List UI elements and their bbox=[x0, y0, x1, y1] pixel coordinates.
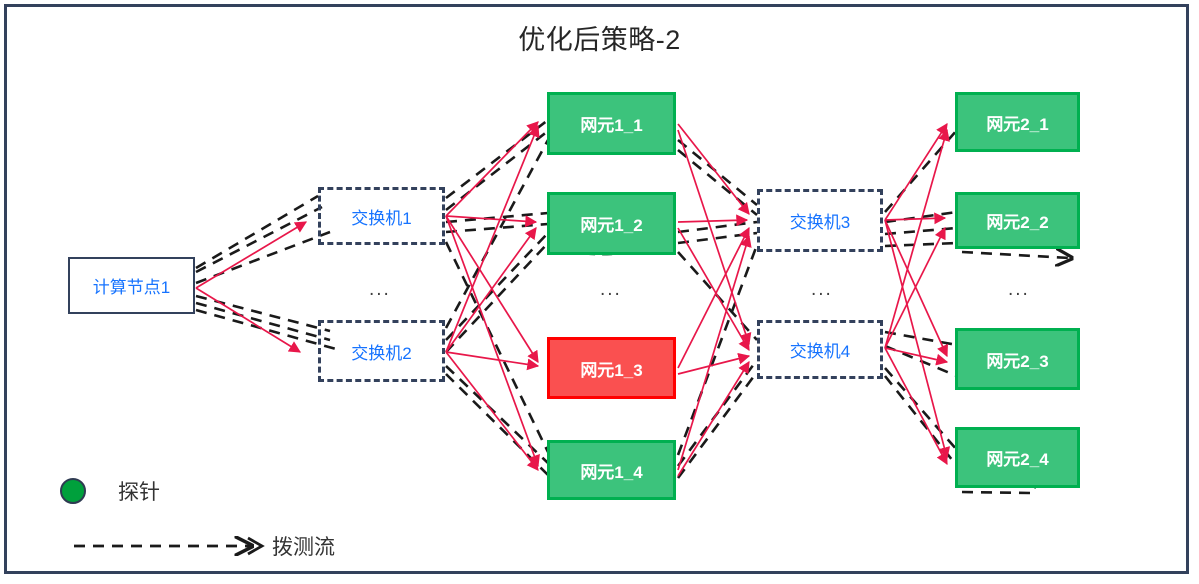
red-probe-edges bbox=[196, 122, 947, 476]
ellipsis-marker-4: ... bbox=[1008, 280, 1030, 299]
network-element-ne1_1[interactable]: 网元1_1 bbox=[547, 92, 676, 155]
network-element-label: 网元2_2 bbox=[986, 208, 1048, 233]
network-element-ne2_4[interactable]: 网元2_4 bbox=[955, 427, 1080, 488]
switch-node-sw1[interactable]: 交换机1 bbox=[318, 187, 445, 245]
network-element-ne1_2[interactable]: 网元1_2 bbox=[547, 192, 676, 255]
network-element-label: 网元1_1 bbox=[580, 111, 642, 136]
compute-node-label: 计算节点1 bbox=[93, 273, 170, 298]
switch-node-sw4[interactable]: 交换机4 bbox=[757, 320, 883, 379]
diagram-canvas: 优化后策略-2 bbox=[0, 0, 1199, 584]
switch-node-sw2[interactable]: 交换机2 bbox=[318, 320, 445, 382]
ellipsis-marker-1: ... bbox=[369, 280, 391, 299]
network-element-label: 网元2_4 bbox=[986, 445, 1048, 470]
legend-label-dial-test-flow: 拨测流 bbox=[272, 531, 335, 561]
switch-node-label: 交换机2 bbox=[351, 339, 411, 364]
legend-label-probe: 探针 bbox=[118, 476, 160, 506]
dashed-arrow-icon bbox=[72, 532, 272, 558]
network-element-label: 网元1_2 bbox=[580, 211, 642, 236]
network-element-label: 网元2_3 bbox=[986, 347, 1048, 372]
switch-node-label: 交换机3 bbox=[790, 208, 850, 233]
network-element-ne2_1[interactable]: 网元2_1 bbox=[955, 92, 1080, 152]
network-element-label: 网元1_3 bbox=[580, 356, 642, 381]
dashed-dial-test-edges bbox=[196, 120, 957, 478]
ellipsis-marker-2: ... bbox=[600, 280, 622, 299]
network-element-ne2_2[interactable]: 网元2_2 bbox=[955, 192, 1080, 249]
network-element-label: 网元2_1 bbox=[986, 110, 1048, 135]
network-element-ne1_4[interactable]: 网元1_4 bbox=[547, 440, 676, 500]
network-element-ne2_3[interactable]: 网元2_3 bbox=[955, 328, 1080, 390]
switch-node-sw3[interactable]: 交换机3 bbox=[757, 189, 883, 252]
probe-icon bbox=[60, 478, 86, 504]
compute-node-compute1[interactable]: 计算节点1 bbox=[68, 257, 195, 314]
network-element-ne1_3[interactable]: 网元1_3 bbox=[547, 337, 676, 399]
switch-node-label: 交换机1 bbox=[351, 204, 411, 229]
network-element-label: 网元1_4 bbox=[580, 458, 642, 483]
switch-node-label: 交换机4 bbox=[790, 337, 850, 362]
ellipsis-marker-3: ... bbox=[811, 280, 833, 299]
